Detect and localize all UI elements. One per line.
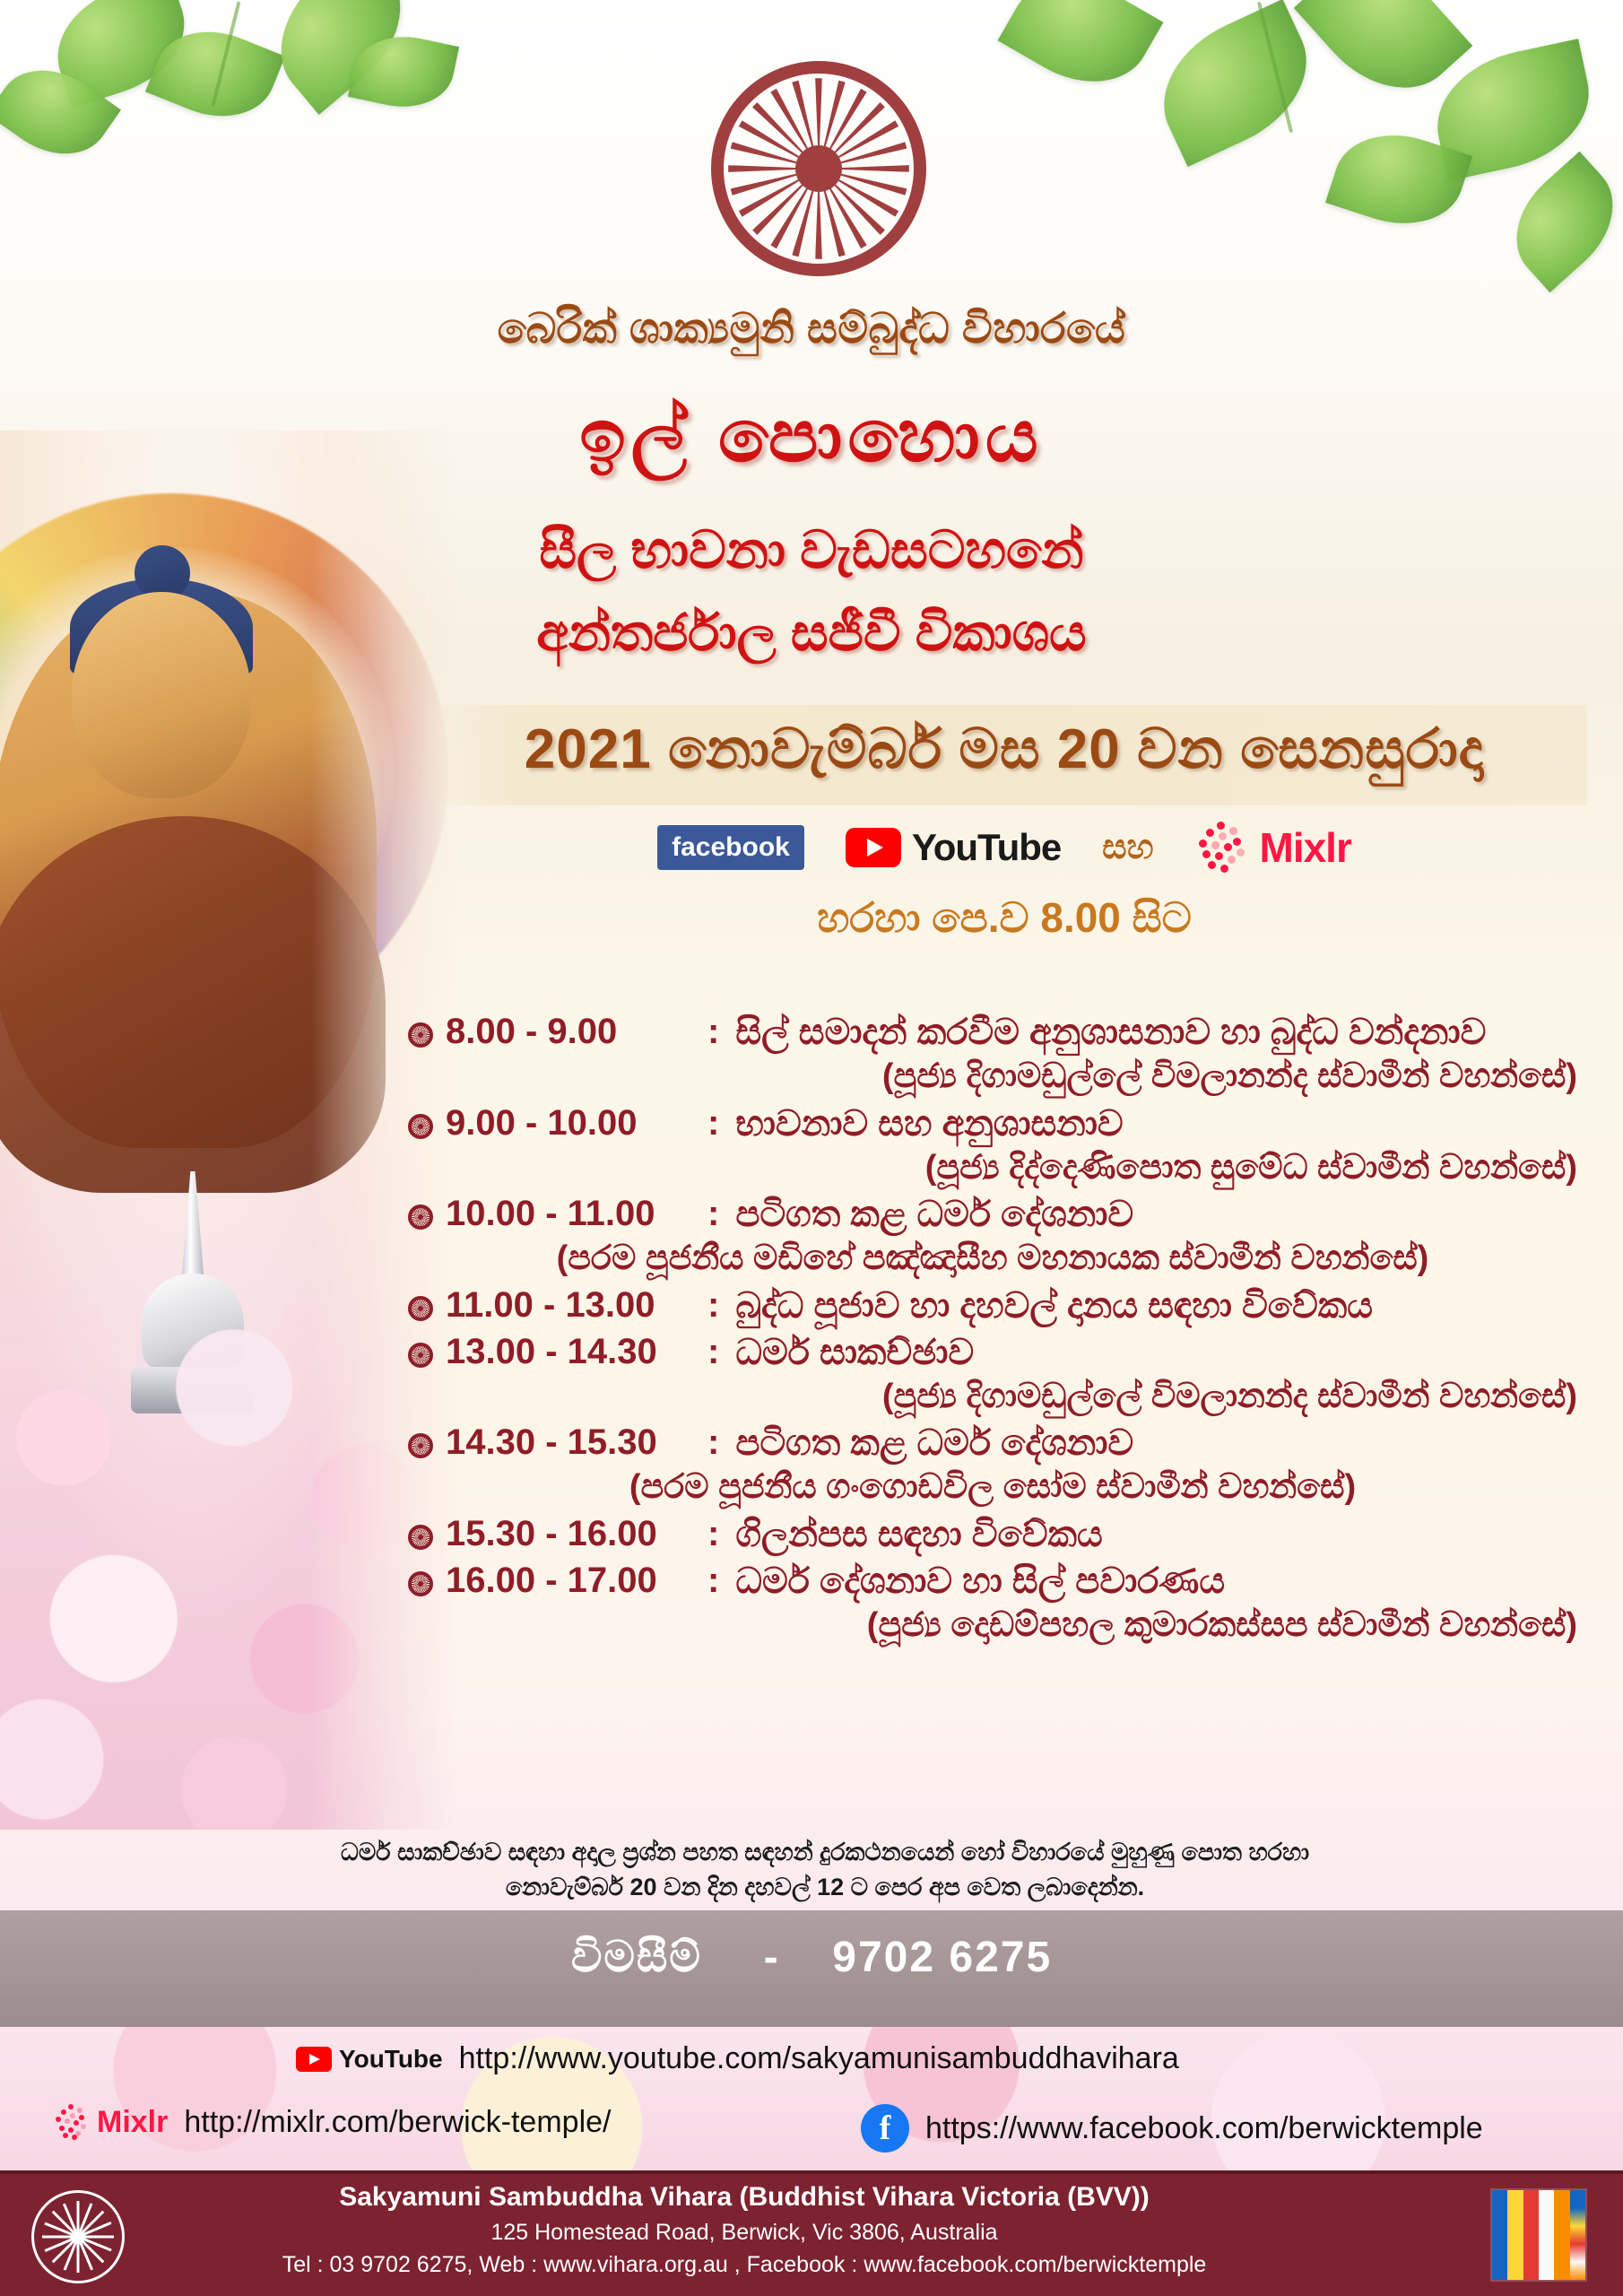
poster-root: බෙරික් ශාක්‍යමුනි සම්බුද්ධ විහාරයේ ඉල් ප…	[0, 0, 1623, 2296]
schedule-description: ධර්ම දේශනාව හා සිල් පවාරණය	[735, 1561, 1225, 1602]
schedule-row: 16.00 - 17.00 : ධර්ම දේශනාව හා සිල් පවාර…	[408, 1561, 1592, 1647]
schedule-description: බුද්ධ පූජාව හා දහවල් දානය සඳහා විවේකය	[735, 1285, 1373, 1326]
start-time-line: හරහා පෙ.ව 8.00 සිට	[421, 893, 1587, 944]
buddhist-flag-icon	[1490, 2188, 1587, 2282]
schedule-time: 10.00 - 11.00	[446, 1194, 691, 1234]
schedule-separator: :	[707, 1422, 719, 1463]
schedule-row: 8.00 - 9.00 : සිල් සමාදන් කරවීම අනුශාසනා…	[408, 1012, 1592, 1098]
mixlr-logo[interactable]: Mixlr	[1195, 822, 1351, 874]
subtitle-line-2: අන්තර්ජාල සජීවී විකාශය	[0, 603, 1623, 664]
temple-name: බෙරික් ශාක්‍යමුනි සම්බුද්ධ විහාරයේ	[0, 303, 1623, 354]
schedule-speaker: (පූජ්‍ය දිගාමඩුල්ලේ විමලානන්ද ස්වාමීන් ව…	[408, 1377, 1577, 1418]
schedule-separator: :	[707, 1103, 719, 1144]
mixlr-icon: Mixlr	[54, 2104, 168, 2140]
mixlr-link-row[interactable]: Mixlr http://mixlr.com/berwick-temple/	[54, 2104, 611, 2140]
inquiry-phone: 9702 6275	[832, 1934, 1052, 1981]
footnote-line-1: ධර්ම සාකච්ඡාව සඳහා අදාල ප්‍රශ්න පහත සඳහන…	[296, 1835, 1354, 1870]
youtube-wordmark: YouTube	[912, 826, 1061, 869]
youtube-url[interactable]: http://www.youtube.com/sakyamunisambuddh…	[459, 2041, 1179, 2076]
inquiry-line: විමසීම් - 9702 6275	[0, 1933, 1623, 1983]
schedule-description: පටිගත කළ ධර්ම දේශනාව	[735, 1422, 1133, 1464]
schedule-speaker: (පූජ්‍ය දොඩම්පහල කුමාරකස්සප ස්වාමීන් වහන…	[408, 1605, 1577, 1647]
schedule-list: 8.00 - 9.00 : සිල් සමාදන් කරවීම අනුශාසනා…	[408, 1012, 1592, 1652]
schedule-speaker: (පරම පූජනීය ගංගොඩවිල සෝම ස්වාමීන් වහන්සේ…	[408, 1467, 1577, 1509]
facebook-url[interactable]: https://www.facebook.com/berwicktemple	[925, 2111, 1483, 2146]
schedule-description: ධර්ම සාකච්ඡාව	[735, 1332, 974, 1373]
schedule-time: 8.00 - 9.00	[446, 1012, 691, 1052]
youtube-play-icon	[846, 828, 901, 867]
schedule-row: 10.00 - 11.00 : පටිගත කළ ධර්ම දේශනාව (පර…	[408, 1194, 1592, 1280]
schedule-speaker: (පූජ්‍ය දිගාමඩුල්ලේ විමලානන්ද ස්වාමීන් ව…	[408, 1057, 1577, 1098]
wheel-bullet-icon	[408, 1296, 433, 1321]
wheel-bullet-icon	[408, 1022, 433, 1048]
page-title: ඉල් පොහොය	[0, 395, 1623, 480]
schedule-separator: :	[707, 1285, 719, 1326]
schedule-speaker: (පරම පූජනීය මඩිහේ පඤ්ඤාසීහ මහනායක ස්වාමී…	[408, 1239, 1577, 1280]
youtube-wordmark-small: YouTube	[339, 2045, 443, 2074]
facebook-link-row[interactable]: f https://www.facebook.com/berwicktemple	[861, 2104, 1483, 2152]
mixlr-url[interactable]: http://mixlr.com/berwick-temple/	[184, 2105, 611, 2140]
wheel-bullet-icon	[408, 1343, 433, 1368]
conjunction-label: සහ	[1102, 829, 1153, 867]
youtube-link-row[interactable]: YouTube http://www.youtube.com/sakyamuni…	[296, 2041, 1179, 2076]
schedule-separator: :	[707, 1332, 719, 1372]
footnote-line-2: නොවැම්බර් 20 වන දින දහවල් 12 ට පෙර අප වෙ…	[296, 1870, 1354, 1905]
inquiry-dash: -	[764, 1934, 780, 1981]
schedule-description: සිල් සමාදන් කරවීම අනුශාසනාව හා බුද්ධ වන්…	[735, 1012, 1486, 1053]
schedule-separator: :	[707, 1514, 719, 1554]
schedule-row: 14.30 - 15.30 : පටිගත කළ ධර්ම දේශනාව (පර…	[408, 1422, 1592, 1509]
schedule-time: 14.30 - 15.30	[446, 1422, 691, 1463]
schedule-row: 9.00 - 10.00 : භාවනාව සහ අනුශාසනාව (පූජ්…	[408, 1103, 1592, 1189]
schedule-description: ගිලන්පස සඳහා විවේකය	[735, 1514, 1102, 1555]
facebook-logo[interactable]: facebook	[657, 825, 804, 870]
temple-seal-logo	[31, 2190, 125, 2283]
schedule-separator: :	[707, 1194, 719, 1234]
footnote: ධර්ම සාකච්ඡාව සඳහා අදාල ප්‍රශ්න පහත සඳහන…	[296, 1835, 1354, 1905]
wheel-bullet-icon	[408, 1571, 433, 1596]
schedule-row: 13.00 - 14.30 : ධර්ම සාකච්ඡාව (පූජ්‍ය දි…	[408, 1332, 1592, 1418]
youtube-icon: YouTube	[296, 2045, 443, 2074]
mixlr-wordmark-small: Mixlr	[97, 2105, 168, 2140]
schedule-speaker: (පූජ්‍ය දිද්දෙණිපොත සුමේධ ස්වාමීන් වහන්ස…	[408, 1148, 1577, 1189]
inquiry-label: විමසීම්	[571, 1934, 702, 1981]
wheel-bullet-icon	[408, 1433, 433, 1458]
schedule-time: 9.00 - 10.00	[446, 1103, 691, 1144]
schedule-time: 11.00 - 13.00	[446, 1285, 691, 1326]
schedule-time: 13.00 - 14.30	[446, 1332, 691, 1372]
schedule-separator: :	[707, 1561, 719, 1601]
schedule-time: 15.30 - 16.00	[446, 1514, 691, 1554]
social-platform-row: facebook YouTube සහ Mixlr	[421, 813, 1587, 883]
footer-address: 125 Homestead Road, Berwick, Vic 3806, A…	[179, 2220, 1309, 2246]
mixlr-dots-icon	[1195, 822, 1247, 874]
schedule-description: පටිගත කළ ධර්ම දේශනාව	[735, 1194, 1133, 1235]
wheel-bullet-icon	[408, 1525, 433, 1550]
schedule-separator: :	[707, 1012, 719, 1052]
wheel-bullet-icon	[408, 1205, 433, 1230]
footer-contact: Tel : 03 9702 6275, Web : www.vihara.org…	[179, 2252, 1309, 2278]
footer-org-name: Sakyamuni Sambuddha Vihara (Buddhist Vih…	[179, 2182, 1309, 2213]
schedule-time: 16.00 - 17.00	[446, 1561, 691, 1601]
subtitle-line-1: සීල භාවනා වැඩසටහනේ	[0, 520, 1623, 581]
schedule-row: 11.00 - 13.00 : බුද්ධ පූජාව හා දහවල් දාන…	[408, 1285, 1592, 1326]
schedule-row: 15.30 - 16.00 : ගිලන්පස සඳහා විවේකය	[408, 1514, 1592, 1555]
event-date: 2021 නොවැම්බර් මස 20 වන සෙනසුරාදා	[421, 717, 1587, 782]
mixlr-wordmark: Mixlr	[1260, 823, 1351, 872]
youtube-logo[interactable]: YouTube	[846, 826, 1061, 869]
schedule-description: භාවනාව සහ අනුශාසනාව	[735, 1103, 1123, 1144]
facebook-icon: f	[861, 2104, 909, 2152]
wheel-bullet-icon	[408, 1114, 433, 1139]
